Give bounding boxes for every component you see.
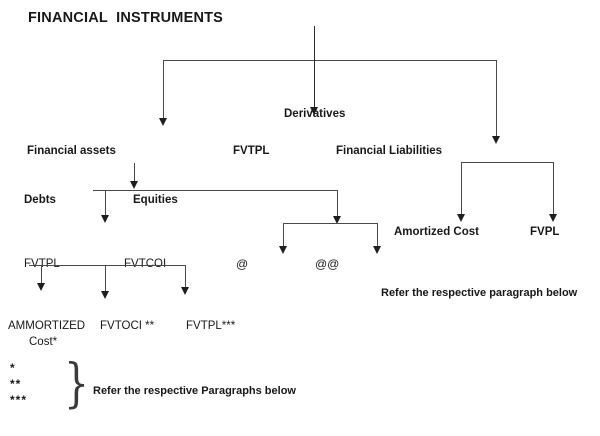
node-at-double: @@ [315,258,339,272]
connector-to-fvtpl-3star [185,265,186,289]
arrowhead-at-double [373,246,381,254]
node-financial-liabilities: Financial Liabilities [336,145,442,158]
node-amortized-cost: Amortized Cost [394,226,479,239]
node-ammortized-cost-line2: Cost* [29,336,57,349]
node-derivatives: Derivatives [284,108,345,121]
arrowhead-fvpl [549,214,557,222]
diagram-canvas: FINANCIAL INSTRUMENTS Derivatives Financ… [0,0,600,436]
node-equities: Equities [133,194,178,207]
note-bottom-paragraphs: Refer the respective Paragraphs below [93,385,296,398]
arrowhead-ammortized-cost-star [37,283,45,291]
node-at-single: @ [236,258,248,272]
connector-to-fvtoci-2star [105,265,106,293]
page-title: FINANCIAL INSTRUMENTS [28,10,223,27]
footnote-star-1: * [10,362,16,376]
connector-to-at-single [283,223,284,248]
node-fvtoci-2star: FVTOCI ** [100,320,154,333]
note-right-paragraph: Refer the respective paragraph below [381,287,577,300]
connector-to-amortized-cost [461,162,462,216]
node-fvtpl-3star: FVTPL*** [186,320,235,333]
node-fvtpl-center: FVTPL [233,145,269,158]
arrowhead-assets-stem [130,181,138,189]
node-fvpl: FVPL [530,226,559,239]
connector-equities-sub-bar [283,223,377,224]
connector-debts-bar [29,265,186,266]
connector-to-financial-liabilities [496,60,497,138]
footnote-star-3: *** [10,394,27,408]
curly-brace-icon: } [64,358,89,410]
connector-to-derivatives [314,60,315,112]
connector-to-debts [105,190,106,218]
footnote-star-2: ** [10,378,21,392]
node-ammortized-cost-line1: AMMORTIZED [8,320,85,333]
arrowhead-debts [101,215,109,223]
connector-to-at-double [377,223,378,248]
connector-root-stem [314,26,315,61]
connector-liabilities-bar [461,162,553,163]
arrowhead-at-single [279,246,287,254]
arrowhead-financial-assets [159,118,167,126]
connector-to-financial-assets [163,60,164,118]
connector-assets-stem [134,163,135,183]
connector-top-split-bar [163,60,497,61]
connector-assets-bar [93,190,337,191]
node-debts: Debts [24,194,56,207]
arrowhead-fvtpl-3star [181,287,189,295]
connector-to-fvpl [553,162,554,216]
arrowhead-amortized-cost [457,214,465,222]
node-financial-assets: Financial assets [27,145,116,158]
arrowhead-financial-liabilities [492,136,500,144]
arrowhead-fvtoci-2star [101,291,109,299]
connector-to-ammortized-cost-star [41,265,42,285]
